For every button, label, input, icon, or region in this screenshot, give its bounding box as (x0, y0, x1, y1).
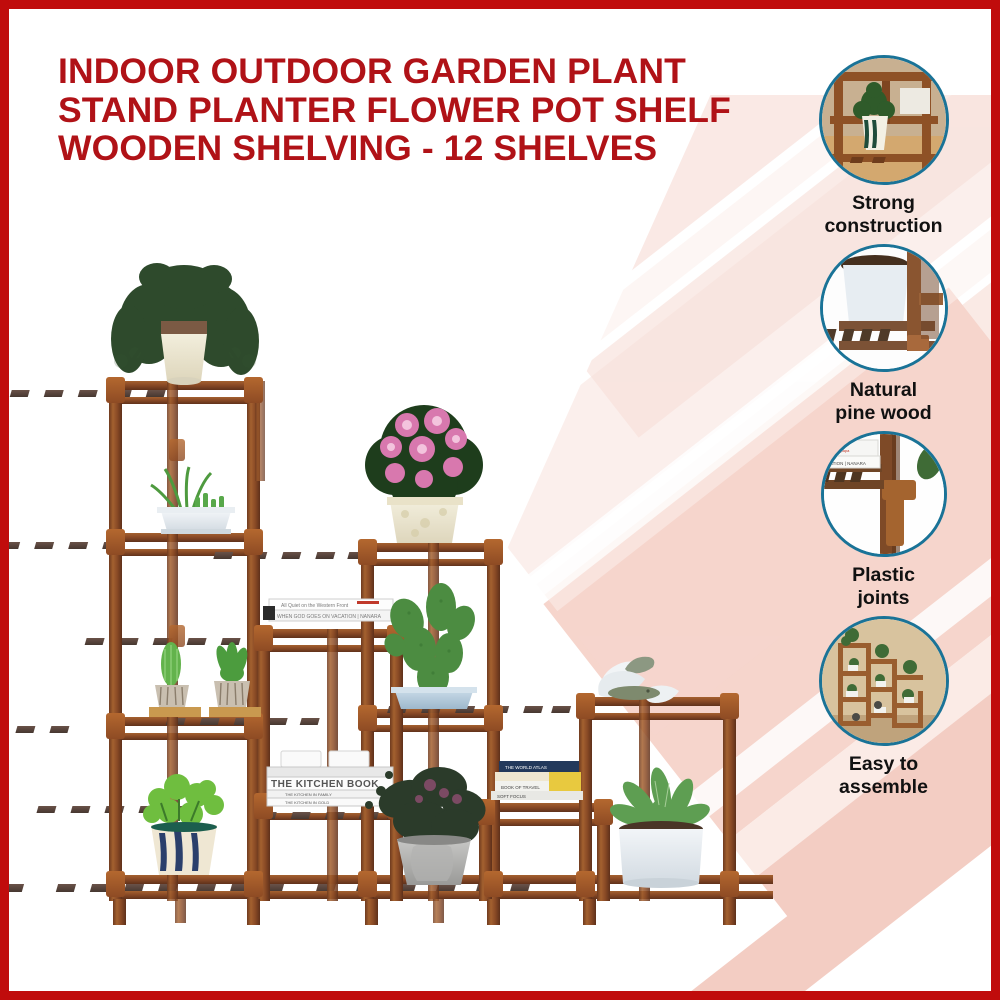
page-border-frame: INDOOR OUTDOOR GARDEN PLANT STAND PLANTE… (0, 0, 1000, 1000)
svg-text:BOOK OF TRAVEL: BOOK OF TRAVEL (501, 785, 540, 790)
prickly-pear-cactus (380, 583, 480, 709)
svg-text:THE KITCHEN IN FAMILY: THE KITCHEN IN FAMILY (285, 792, 332, 797)
feature-easy-to-assemble: Easy to assemble (780, 616, 987, 799)
shelf-slats-left-top (10, 381, 259, 404)
colourful-book-stack: THE WORLD ATLAS BOOK OF TRAVEL SOFT FOCU… (491, 761, 583, 800)
grass-succulent-planter (151, 467, 235, 534)
small-succulent-right (213, 642, 250, 707)
feature-plastic-joints: Rempapa ATION | NANARA Plastic joints (780, 431, 987, 610)
agave-succulent (607, 766, 713, 888)
plastic-joints-photo: Rempapa ATION | NANARA (821, 431, 947, 557)
shelf-closeup-icon (822, 58, 946, 182)
svg-text:THE KITCHEN BOOK: THE KITCHEN BOOK (271, 779, 379, 790)
pine-wood-icon (823, 247, 945, 369)
svg-text:THE KITCHEN IN GOLD: THE KITCHEN IN GOLD (285, 800, 329, 805)
svg-text:WHEN GOD GOES ON VACATION |: WHEN GOD GOES ON VACATION | NANARA (277, 614, 382, 620)
svg-text:SOFT FOCUS: SOFT FOCUS (497, 794, 526, 799)
stand-feet (113, 899, 736, 925)
feature-callout-list: Strong construction (780, 55, 987, 805)
plastic-joint-icon: Rempapa ATION | NANARA (824, 434, 944, 554)
book-stack-small: All Quiet on the Western Front WHEN GOD … (263, 599, 393, 621)
trailing-ivy-plant (111, 263, 259, 385)
svg-text:All Quiet on the Western Front: All Quiet on the Western Front (281, 603, 349, 609)
shelf-slats-left-3 (9, 717, 259, 740)
natural-pine-wood-photo (820, 244, 948, 372)
pink-flowering-plant (365, 405, 483, 543)
strong-construction-label: Strong construction (824, 192, 942, 238)
small-cactus-left (155, 642, 189, 707)
title-line-3: WOODEN SHELVING - 12 SHELVES (58, 129, 758, 168)
easy-to-assemble-label: Easy to assemble (839, 753, 928, 799)
title-line-2: STAND PLANTER FLOWER POT SHELF (58, 91, 758, 130)
strong-construction-photo (819, 55, 949, 185)
easy-to-assemble-photo (819, 616, 949, 746)
svg-text:ATION | NANARA: ATION | NANARA (830, 461, 866, 466)
assembled-stand-icon (822, 619, 946, 743)
green-leafy-plant (143, 774, 224, 875)
cactus-duo (149, 642, 261, 717)
feature-natural-pine-wood: Natural pine wood (780, 244, 987, 425)
page-title: INDOOR OUTDOOR GARDEN PLANT STAND PLANTE… (58, 52, 758, 168)
natural-pine-wood-label: Natural pine wood (835, 379, 931, 425)
svg-text:Rempapa: Rempapa (832, 448, 850, 453)
white-bird-sculpture (598, 657, 679, 703)
svg-text:THE WORLD ATLAS: THE WORLD ATLAS (505, 765, 547, 770)
title-line-1: INDOOR OUTDOOR GARDEN PLANT (58, 52, 758, 91)
plastic-joints-label: Plastic joints (852, 564, 915, 610)
page-inner-canvas: INDOOR OUTDOOR GARDEN PLANT STAND PLANTE… (9, 9, 991, 991)
feature-strong-construction: Strong construction (780, 55, 987, 238)
book-stack-cups: THE KITCHEN BOOK THE KITCHEN IN FAMILY T… (267, 751, 393, 806)
